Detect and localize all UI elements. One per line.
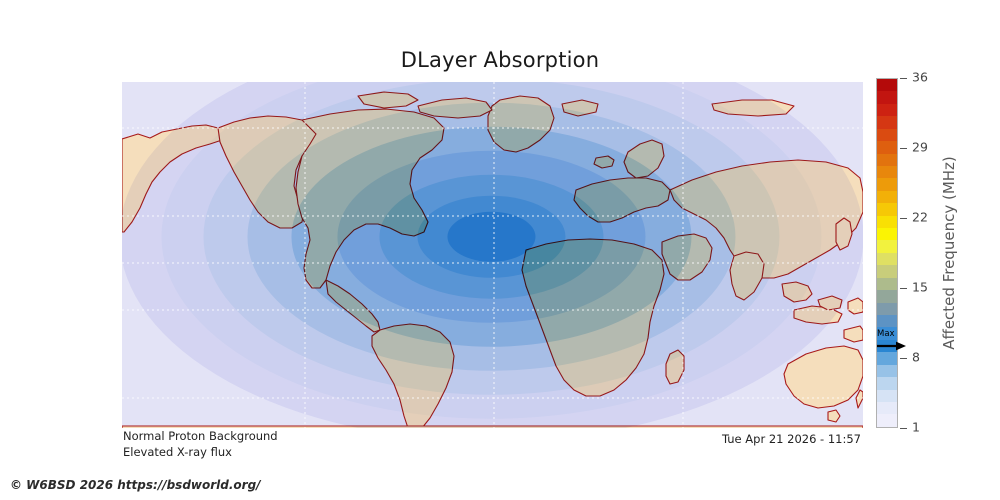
colorbar-tick-dash <box>900 218 907 219</box>
colorbar-band <box>877 352 897 364</box>
colorbar-band <box>877 253 897 265</box>
colorbar-band <box>877 216 897 228</box>
colorbar-band <box>877 303 897 315</box>
colorbar-band <box>877 240 897 252</box>
footer-credit: © W6BSD 2026 https://bsdworld.org/ <box>10 478 261 492</box>
colorbar-tick-dash <box>900 428 907 429</box>
map-panel[interactable] <box>122 82 863 428</box>
colorbar-band <box>877 265 897 277</box>
colorbar-band <box>877 290 897 302</box>
colorbar-axis-label: Affected Frequency (MHz) <box>938 78 960 428</box>
colorbar-tick-label: 29 <box>912 141 928 154</box>
colorbar-tick-dash <box>900 288 907 289</box>
colorbar-band <box>877 166 897 178</box>
colorbar-band <box>877 278 897 290</box>
colorbar-band <box>877 315 897 327</box>
colorbar-tick-label: 1 <box>912 421 920 434</box>
colorbar[interactable] <box>876 78 898 428</box>
colorbar-band <box>877 377 897 389</box>
colorbar-band <box>877 340 897 352</box>
status-note-xray: Elevated X-ray flux <box>123 445 232 459</box>
colorbar-band <box>877 129 897 141</box>
colorbar-band <box>877 402 897 414</box>
colorbar-tick-label: 36 <box>912 71 928 84</box>
colorbar-gradient <box>876 78 898 428</box>
map-canvas <box>122 82 863 428</box>
colorbar-tick-label: 8 <box>912 351 920 364</box>
colorbar-band <box>877 178 897 190</box>
colorbar-band <box>877 365 897 377</box>
colorbar-band <box>877 414 897 426</box>
colorbar-band <box>877 228 897 240</box>
colorbar-band <box>877 154 897 166</box>
colorbar-band <box>877 104 897 116</box>
colorbar-band <box>877 91 897 103</box>
colorbar-band <box>877 390 897 402</box>
timestamp: Tue Apr 21 2026 - 11:57 <box>722 432 861 446</box>
colorbar-tick-label: 22 <box>912 211 928 224</box>
colorbar-band <box>877 141 897 153</box>
colorbar-band <box>877 79 897 91</box>
colorbar-band <box>877 327 897 339</box>
colorbar-band <box>877 203 897 215</box>
page-title: DLayer Absorption <box>0 48 1000 72</box>
colorbar-tick-dash <box>900 78 907 79</box>
map-gridlines <box>122 82 863 428</box>
colorbar-tick-dash <box>900 148 907 149</box>
colorbar-tick-label: 15 <box>912 281 928 294</box>
colorbar-band <box>877 116 897 128</box>
status-note-proton: Normal Proton Background <box>123 429 278 443</box>
colorbar-band <box>877 191 897 203</box>
colorbar-axis-label-text: Affected Frequency (MHz) <box>940 156 958 350</box>
colorbar-tick-dash <box>900 358 907 359</box>
